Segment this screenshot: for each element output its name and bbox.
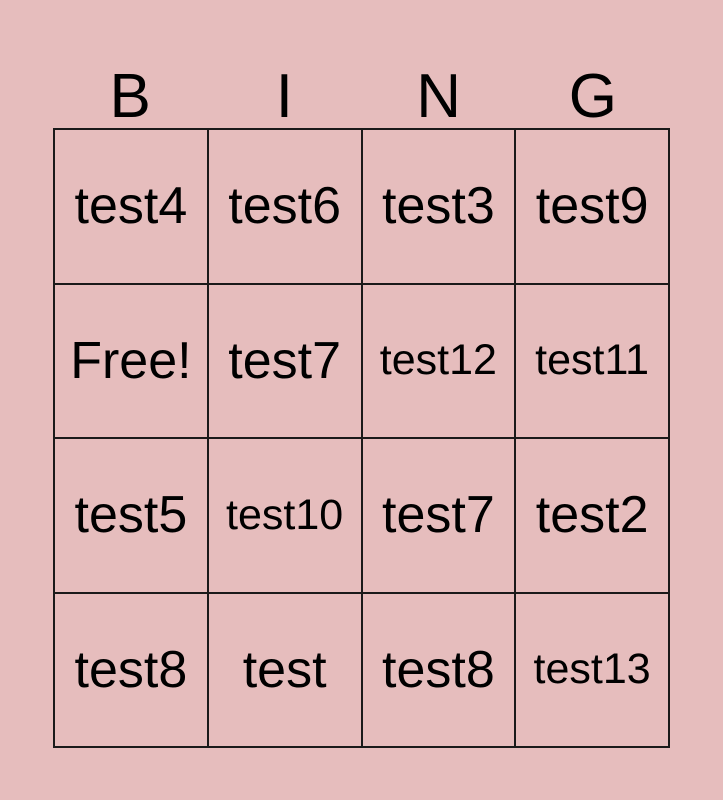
bingo-header-cell-0: B — [53, 50, 207, 124]
bingo-cell-label: test8 — [75, 644, 188, 696]
bingo-cell-label: test7 — [228, 335, 341, 387]
bingo-header-cell-1: I — [207, 50, 361, 124]
bingo-cell[interactable]: test13 — [516, 594, 670, 749]
bingo-cell[interactable]: test11 — [516, 285, 670, 440]
bingo-cell[interactable]: test7 — [363, 439, 517, 594]
bingo-header-letter: I — [276, 71, 293, 124]
bingo-header-letter: G — [569, 71, 617, 124]
bingo-grid: test4 test6 test3 test9 Free! test7 test… — [53, 128, 670, 748]
bingo-cell-free[interactable]: Free! — [55, 285, 209, 440]
bingo-cell-label: test5 — [75, 489, 188, 541]
bingo-cell[interactable]: test3 — [363, 130, 517, 285]
bingo-cell-label: test8 — [382, 644, 495, 696]
bingo-cell-label: test11 — [535, 339, 649, 382]
bingo-cell[interactable]: test — [209, 594, 363, 749]
bingo-cell-label: test2 — [536, 489, 649, 541]
bingo-header-letter: B — [109, 71, 150, 124]
bingo-cell-label: test3 — [382, 180, 495, 232]
bingo-cell[interactable]: test7 — [209, 285, 363, 440]
bingo-cell[interactable]: test10 — [209, 439, 363, 594]
bingo-cell-label: test13 — [534, 648, 651, 691]
bingo-cell[interactable]: test8 — [55, 594, 209, 749]
bingo-cell[interactable]: test2 — [516, 439, 670, 594]
bingo-cell-label: test4 — [75, 180, 188, 232]
bingo-cell-label: Free! — [70, 335, 191, 387]
bingo-card: B I N G test4 test6 test3 test9 Free! te… — [0, 0, 723, 800]
bingo-cell[interactable]: test12 — [363, 285, 517, 440]
bingo-cell-label: test10 — [226, 494, 343, 537]
bingo-cell-label: test — [243, 644, 327, 696]
bingo-header: B I N G — [53, 50, 670, 124]
bingo-cell-label: test9 — [536, 180, 649, 232]
bingo-header-letter: N — [416, 71, 461, 124]
bingo-header-cell-3: G — [516, 50, 670, 124]
bingo-cell[interactable]: test6 — [209, 130, 363, 285]
bingo-cell[interactable]: test8 — [363, 594, 517, 749]
bingo-header-cell-2: N — [362, 50, 516, 124]
bingo-cell[interactable]: test4 — [55, 130, 209, 285]
bingo-cell[interactable]: test5 — [55, 439, 209, 594]
bingo-cell-label: test7 — [382, 489, 495, 541]
bingo-cell-label: test6 — [228, 180, 341, 232]
bingo-cell[interactable]: test9 — [516, 130, 670, 285]
bingo-cell-label: test12 — [380, 339, 497, 382]
